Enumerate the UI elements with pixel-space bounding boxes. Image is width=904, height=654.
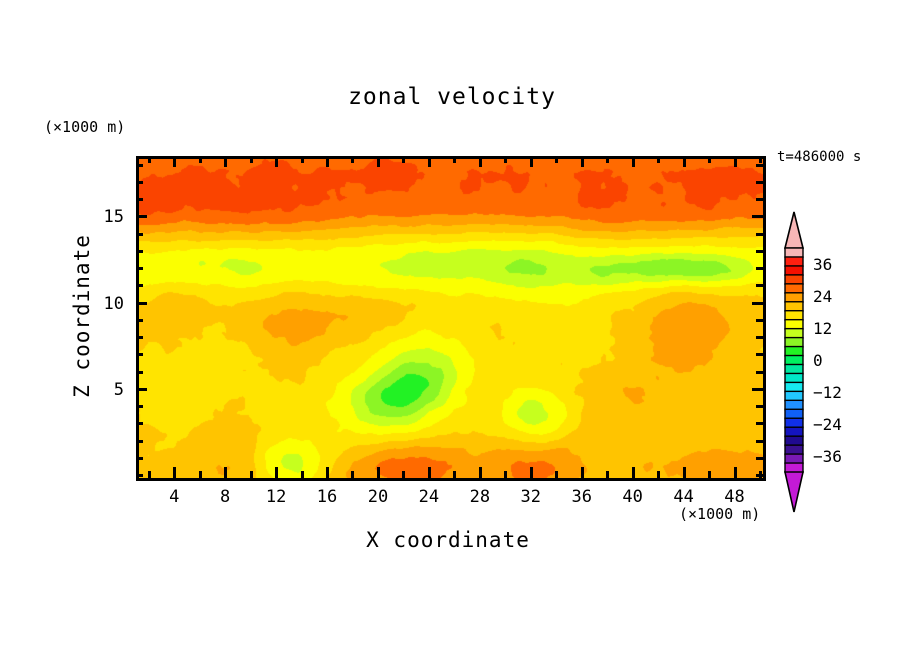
colorbar-band [785, 275, 803, 284]
colorbar-svg [781, 200, 811, 520]
x-tick-top [428, 156, 431, 167]
x-tick-top [759, 156, 762, 163]
colorbar-band [785, 391, 803, 400]
colorbar-band [785, 409, 803, 418]
x-tick [148, 471, 151, 478]
x-tick-top [351, 156, 354, 163]
x-tick [173, 467, 176, 478]
colorbar-band [785, 257, 803, 266]
y-tick [136, 284, 143, 287]
y-tick [136, 250, 143, 253]
colorbar-band [785, 373, 803, 382]
y-tick-right [756, 164, 763, 167]
x-tick-top [224, 156, 227, 167]
x-tick-top [199, 156, 202, 163]
colorbar-band [785, 248, 803, 257]
x-tick-label: 20 [358, 487, 398, 507]
y-tick-right [756, 267, 763, 270]
colorbar-tick-label: 0 [813, 351, 823, 370]
y-tick-right [756, 233, 763, 236]
x-tick [199, 471, 202, 478]
colorbar-band [785, 311, 803, 320]
y-tick-right [752, 388, 763, 391]
y-tick-right [756, 474, 763, 477]
y-tick-right [756, 181, 763, 184]
plot-area [136, 156, 766, 481]
x-tick-label: 16 [307, 487, 347, 507]
y-tick-label: 15 [84, 207, 124, 227]
colorbar-band [785, 293, 803, 302]
x-tick-label: 24 [409, 487, 449, 507]
y-tick-right [756, 336, 763, 339]
x-tick [657, 471, 660, 478]
x-tick-label: 8 [205, 487, 245, 507]
y-tick-right [756, 319, 763, 322]
x-tick [326, 467, 329, 478]
z-axis-unit-label: (×1000 m) [44, 118, 125, 136]
x-tick [555, 471, 558, 478]
x-tick [301, 471, 304, 478]
page-title: zonal velocity [0, 84, 904, 110]
colorbar-band [785, 436, 803, 445]
y-tick [136, 388, 147, 391]
y-tick [136, 181, 143, 184]
y-tick [136, 198, 143, 201]
colorbar-band [785, 320, 803, 329]
y-tick-right [756, 250, 763, 253]
x-tick [275, 467, 278, 478]
colorbar-tick-label: 12 [813, 319, 832, 338]
x-tick [504, 471, 507, 478]
x-tick-top [275, 156, 278, 167]
y-tick-right [752, 302, 763, 305]
y-tick [136, 267, 143, 270]
colorbar-over-arrow [785, 212, 803, 248]
x-tick [224, 467, 227, 478]
y-tick [136, 319, 143, 322]
y-tick [136, 474, 143, 477]
x-tick-top [326, 156, 329, 167]
x-tick-top [453, 156, 456, 163]
x-tick-label: 4 [154, 487, 194, 507]
y-tick [136, 422, 143, 425]
y-tick-right [756, 353, 763, 356]
x-tick [479, 467, 482, 478]
y-tick-right [756, 422, 763, 425]
colorbar-band [785, 382, 803, 391]
x-axis-title: X coordinate [136, 528, 760, 552]
x-tick [632, 467, 635, 478]
colorbar-band [785, 338, 803, 347]
y-tick [136, 440, 143, 443]
colorbar-band [785, 284, 803, 293]
x-tick [606, 471, 609, 478]
x-tick-top [504, 156, 507, 163]
x-tick-top [479, 156, 482, 167]
x-tick-top [148, 156, 151, 163]
x-tick [453, 471, 456, 478]
y-tick-right [756, 284, 763, 287]
x-tick-top [734, 156, 737, 167]
colorbar-band [785, 400, 803, 409]
y-tick-right [756, 440, 763, 443]
x-tick-top [606, 156, 609, 163]
x-tick-top [581, 156, 584, 167]
x-tick-label: 40 [613, 487, 653, 507]
y-tick [136, 353, 143, 356]
y-tick [136, 371, 143, 374]
x-tick [250, 471, 253, 478]
colorbar-band [785, 364, 803, 373]
y-tick-right [756, 198, 763, 201]
x-tick-top [632, 156, 635, 167]
y-tick-label: 10 [84, 294, 124, 314]
colorbar-band [785, 445, 803, 454]
y-tick-right [756, 371, 763, 374]
colorbar-band [785, 418, 803, 427]
x-tick-top [683, 156, 686, 167]
colorbar-tick-label: −12 [813, 383, 842, 402]
x-tick-top [530, 156, 533, 167]
x-tick-top [657, 156, 660, 163]
timestamp-label: t=486000 s [777, 149, 861, 165]
y-tick-right [752, 215, 763, 218]
x-tick [734, 467, 737, 478]
y-tick [136, 233, 143, 236]
colorbar-band [785, 463, 803, 472]
x-tick-label: 12 [256, 487, 296, 507]
x-tick-top [250, 156, 253, 163]
colorbar-band [785, 266, 803, 275]
y-tick [136, 336, 143, 339]
colorbar-tick-label: −36 [813, 447, 842, 466]
x-tick-label: 36 [562, 487, 602, 507]
colorbar-band [785, 329, 803, 338]
colorbar [781, 200, 811, 520]
x-tick-top [301, 156, 304, 163]
colorbar-under-arrow [785, 472, 803, 512]
x-tick [351, 471, 354, 478]
colorbar-band [785, 356, 803, 365]
x-tick [530, 467, 533, 478]
x-tick [708, 471, 711, 478]
x-tick-top [708, 156, 711, 163]
y-tick-label: 5 [84, 380, 124, 400]
y-tick [136, 457, 143, 460]
colorbar-tick-label: 36 [813, 255, 832, 274]
colorbar-tick-label: 24 [813, 287, 832, 306]
y-tick [136, 215, 147, 218]
x-tick-label: 48 [715, 487, 755, 507]
x-tick-top [173, 156, 176, 167]
colorbar-band [785, 302, 803, 311]
x-axis-unit-label: (×1000 m) [679, 505, 760, 523]
colorbar-band [785, 347, 803, 356]
x-tick-top [402, 156, 405, 163]
y-tick-right [756, 457, 763, 460]
x-tick-label: 32 [511, 487, 551, 507]
y-tick [136, 405, 143, 408]
colorbar-tick-label: −24 [813, 415, 842, 434]
y-tick-right [756, 405, 763, 408]
colorbar-band [785, 454, 803, 463]
x-tick [402, 471, 405, 478]
x-tick [683, 467, 686, 478]
contour-plot-figure: zonal velocity (×1000 m) (×1000 m) t=486… [0, 0, 904, 654]
contour-field-canvas [139, 159, 763, 478]
x-tick-label: 44 [664, 487, 704, 507]
y-tick [136, 164, 143, 167]
colorbar-band [785, 427, 803, 436]
x-tick-top [377, 156, 380, 167]
x-tick-label: 28 [460, 487, 500, 507]
x-tick [377, 467, 380, 478]
y-tick [136, 302, 147, 305]
x-tick [428, 467, 431, 478]
x-tick [581, 467, 584, 478]
x-tick-top [555, 156, 558, 163]
